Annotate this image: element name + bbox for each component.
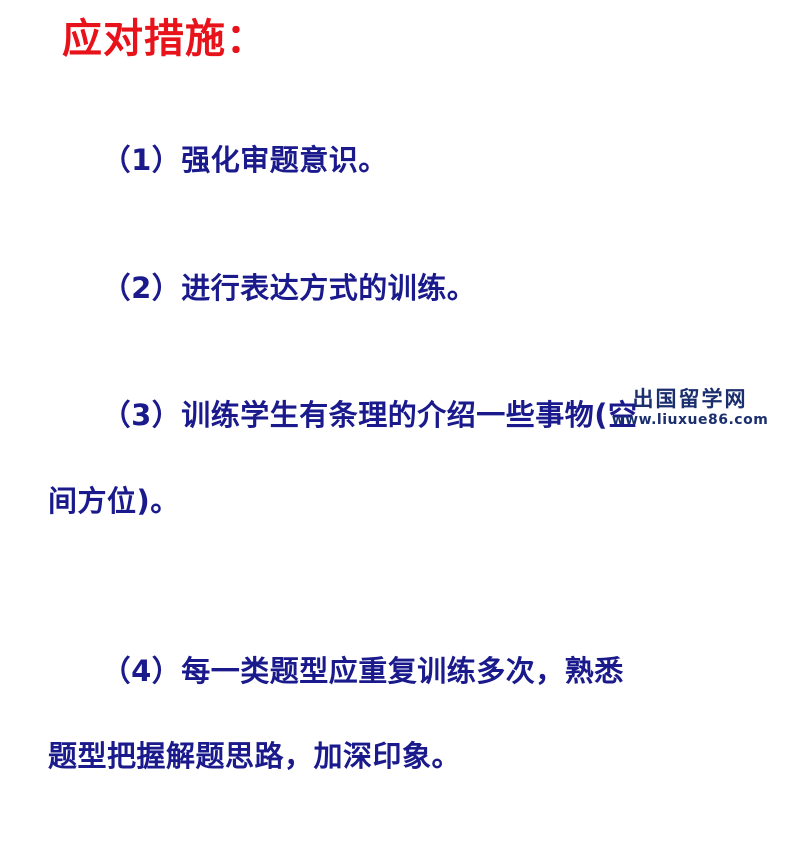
list-item: （1）强化审题意识。 (38, 96, 738, 224)
watermark: 出国留学网 www.liuxue86.com (600, 388, 780, 429)
watermark-url: www.liuxue86.com (600, 411, 780, 429)
slide-canvas: 应对措施： （1）强化审题意识。 （2）进行表达方式的训练。 （3）训练学生有条… (0, 0, 788, 433)
list-item-line1: （4）每一类题型应重复训练多次，熟悉 (102, 654, 624, 688)
list-item: （4）每一类题型应重复训练多次，熟悉 题型把握解题思路，加深印象。 (38, 608, 738, 863)
list-item-line2: 间方位)。 (38, 480, 738, 523)
list-item-line2: 题型把握解题思路，加深印象。 (38, 735, 738, 778)
watermark-site-name: 出国留学网 (600, 388, 780, 411)
list-item-line1: （3）训练学生有条理的介绍一些事物(空 (102, 398, 638, 432)
list-item: （2）进行表达方式的训练。 (38, 224, 738, 352)
page-title: 应对措施： (62, 16, 267, 62)
list-item-line1: （2）进行表达方式的训练。 (102, 271, 477, 305)
list-item-line1: （1）强化审题意识。 (102, 143, 388, 177)
content-list: （1）强化审题意识。 （2）进行表达方式的训练。 （3）训练学生有条理的介绍一些… (38, 96, 738, 863)
